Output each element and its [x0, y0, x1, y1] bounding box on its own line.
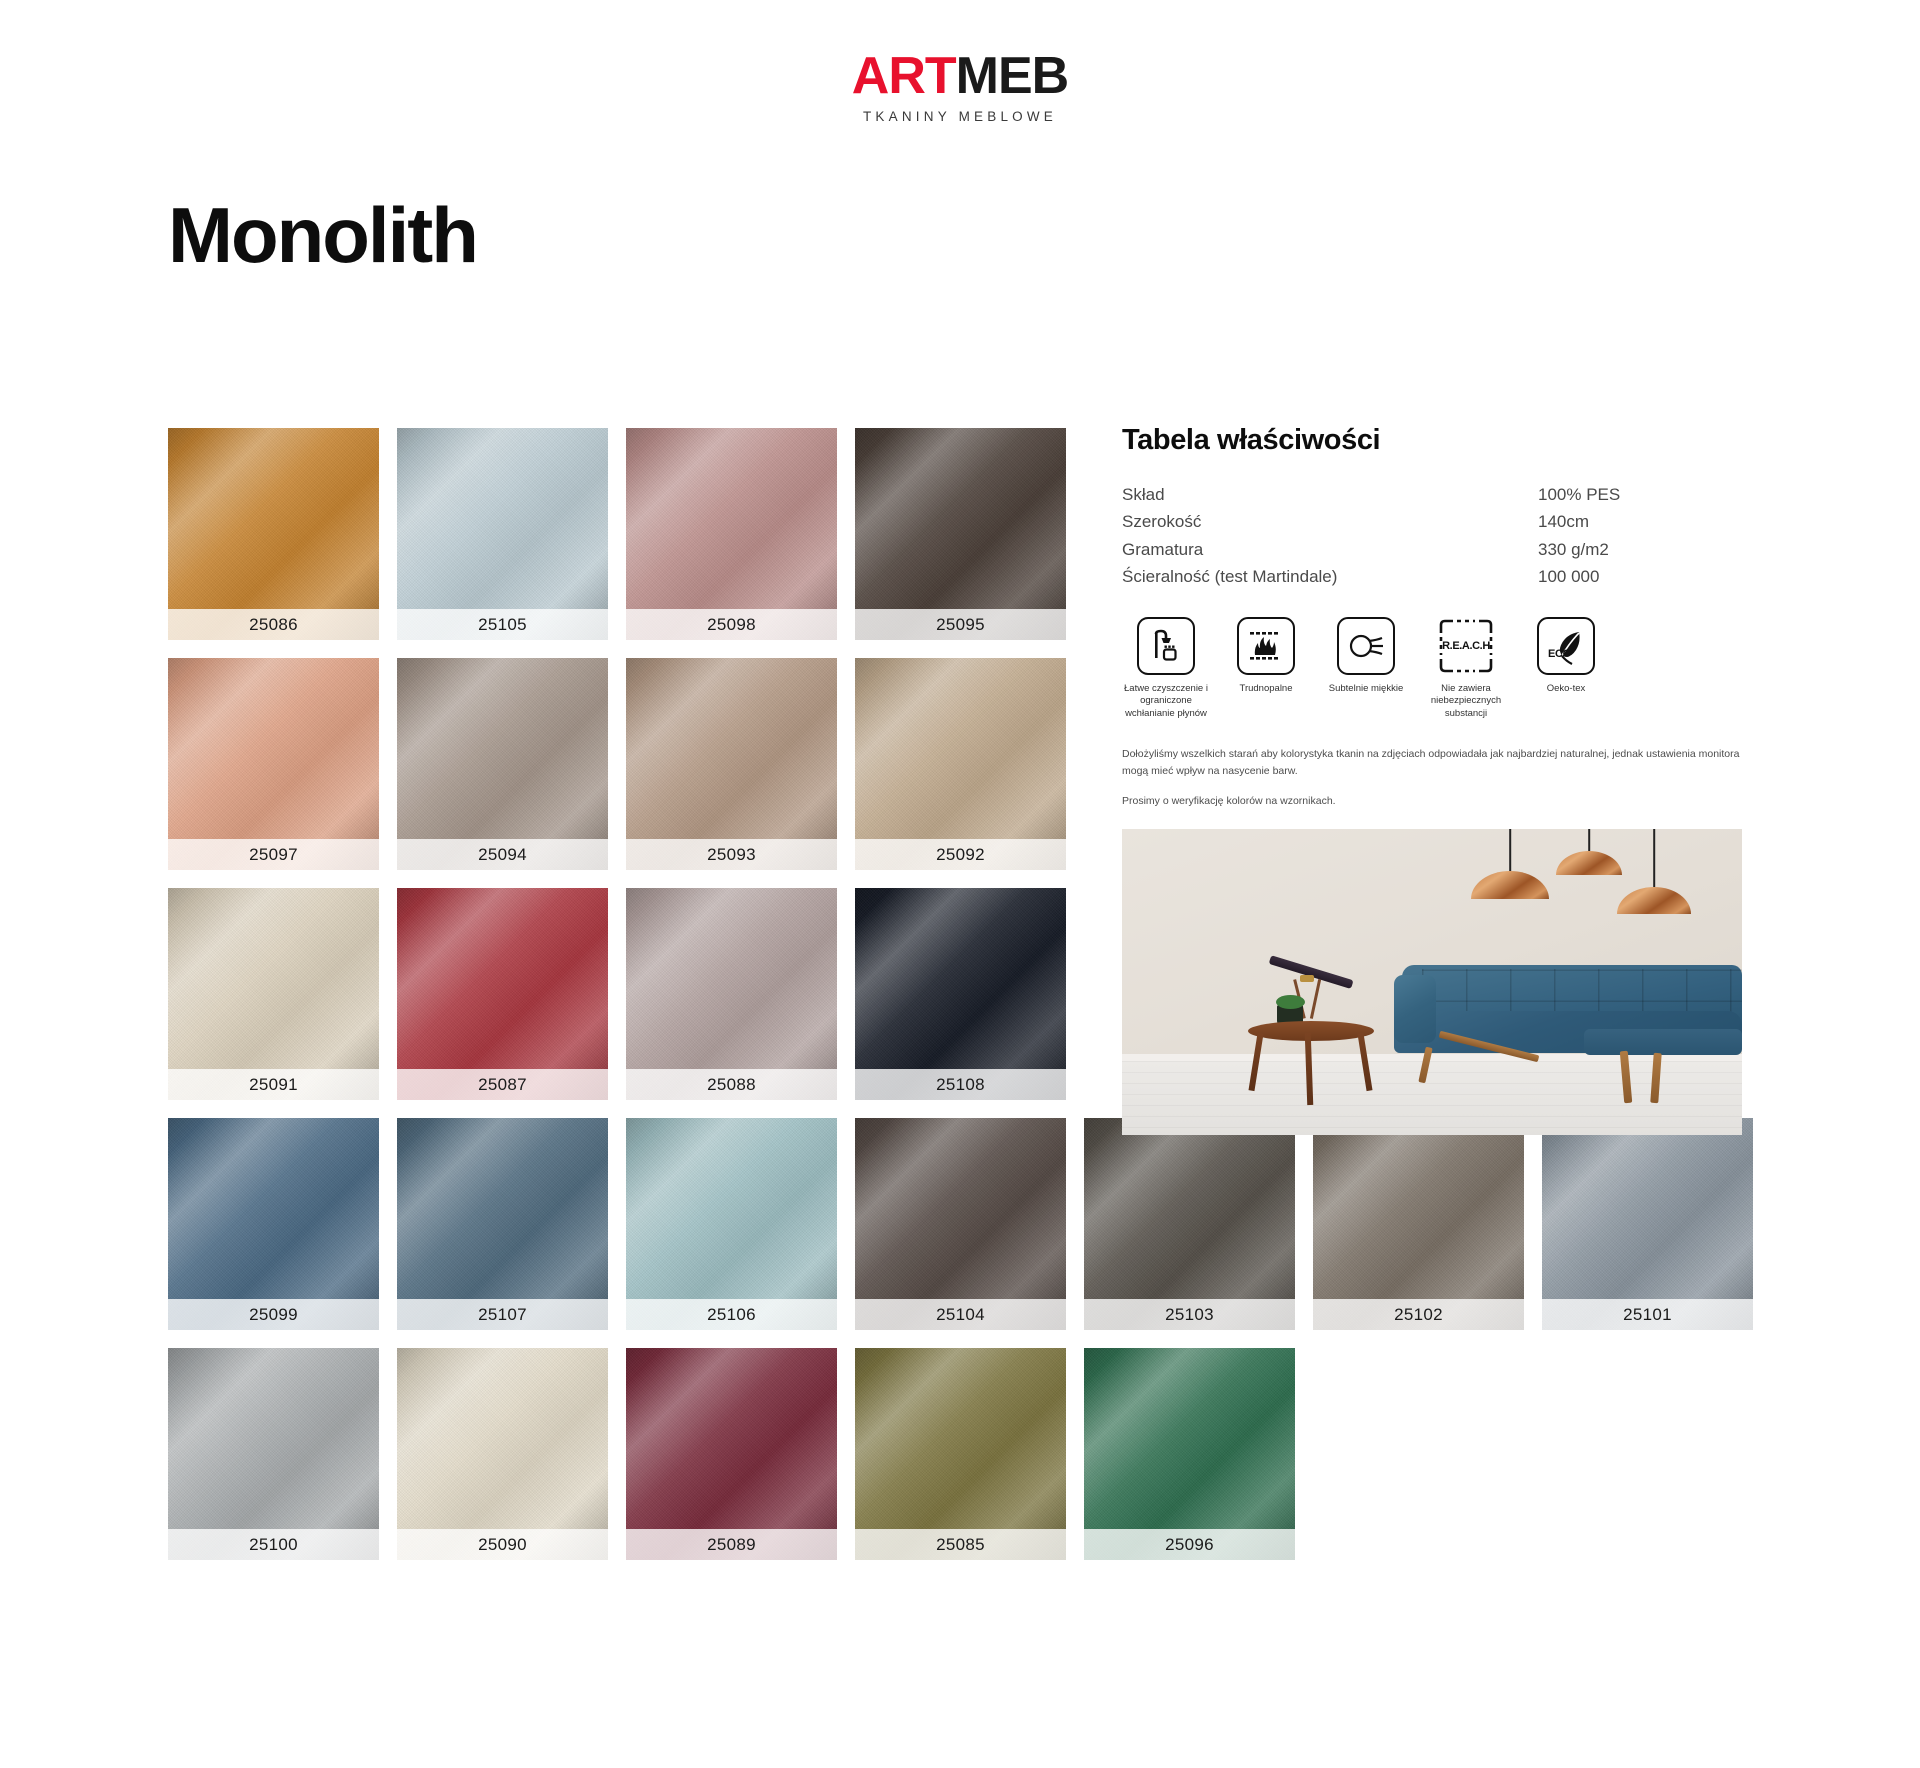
spec-value: 100 000 — [1532, 565, 1742, 592]
swatch-code: 25107 — [397, 1299, 608, 1330]
sofa-armrest — [1394, 975, 1436, 1043]
reach-icon: R.E.A.C.H — [1437, 617, 1495, 675]
pendant-lamp-right — [1614, 829, 1694, 921]
swatch-item[interactable]: 25104 — [855, 1118, 1066, 1330]
swatch-item[interactable]: 25094 — [397, 658, 608, 870]
swatch-code: 25105 — [397, 609, 608, 640]
feature-caption: Trudnopalne — [1222, 683, 1310, 696]
telescope-mount — [1300, 975, 1314, 982]
swatch-item[interactable]: 25108 — [855, 888, 1066, 1100]
feature-icons: Łatwe czyszczenie i ograniczone wchłania… — [1122, 617, 1742, 721]
brand-wordmark: ARTMEB — [852, 50, 1068, 102]
properties-heading: Tabela właściwości — [1122, 424, 1742, 457]
disclaimer-paragraph-2: Prosimy o weryfikację kolorów na wzornik… — [1122, 793, 1740, 809]
feature-oeko-tex: ECO Oeko-tex — [1522, 617, 1610, 721]
swatch-code: 25092 — [855, 839, 1066, 870]
swatch-code: 25099 — [168, 1299, 379, 1330]
swatch-item[interactable]: 25089 — [626, 1348, 837, 1560]
swatch-item[interactable]: 25105 — [397, 428, 608, 640]
swatch-code: 25100 — [168, 1529, 379, 1560]
swatch-item[interactable]: 25085 — [855, 1348, 1066, 1560]
brand-tagline: TKANINY MEBLOWE — [0, 109, 1920, 124]
swatch-code: 25097 — [168, 839, 379, 870]
feature-easy-clean: Łatwe czyszczenie i ograniczone wchłania… — [1122, 617, 1210, 721]
feature-soft-touch: Subtelnie miękkie — [1322, 617, 1410, 721]
swatch-code: 25086 — [168, 609, 379, 640]
photo-floor — [1122, 1061, 1742, 1135]
swatch-item[interactable]: 25100 — [168, 1348, 379, 1560]
swatch-code: 25091 — [168, 1069, 379, 1100]
swatch-item[interactable]: 25098 — [626, 428, 837, 640]
swatch-code: 25101 — [1542, 1299, 1753, 1330]
swatch-item[interactable]: 25102 — [1313, 1118, 1524, 1330]
spec-label: Ścieralność (test Martindale) — [1122, 565, 1532, 592]
swatch-item[interactable]: 25101 — [1542, 1118, 1753, 1330]
swatch-code: 25106 — [626, 1299, 837, 1330]
brand-logo: ARTMEB TKANINY MEBLOWE — [0, 50, 1920, 124]
pendant-lamp-left — [1470, 829, 1550, 905]
lamp-cord — [1653, 829, 1655, 887]
reach-badge-text: R.E.A.C.H — [1442, 640, 1490, 652]
swatch-code: 25104 — [855, 1299, 1066, 1330]
swatch-code: 25096 — [1084, 1529, 1295, 1560]
lamp-shade — [1556, 851, 1622, 875]
swatch-item[interactable]: 25092 — [855, 658, 1066, 870]
color-disclaimer: Dołożyliśmy wszelkich starań aby kolorys… — [1122, 746, 1740, 809]
flame-retardant-icon — [1237, 617, 1295, 675]
swatch-item[interactable]: 25091 — [168, 888, 379, 1100]
swatch-code: 25103 — [1084, 1299, 1295, 1330]
swatch-item[interactable]: 25106 — [626, 1118, 837, 1330]
swatch-item[interactable]: 25097 — [168, 658, 379, 870]
lamp-cord — [1588, 829, 1590, 851]
spec-label: Szerokość — [1122, 510, 1532, 537]
properties-panel: Tabela właściwości Skład 100% PES Szerok… — [1122, 424, 1742, 1135]
swatch-item[interactable]: 25093 — [626, 658, 837, 870]
room-interior-photo — [1122, 829, 1742, 1135]
feature-reach: R.E.A.C.H Nie zawiera niebezpiecznych su… — [1422, 617, 1510, 721]
table-row: Ścieralność (test Martindale) 100 000 — [1122, 565, 1742, 592]
eco-leaf-icon: ECO — [1537, 617, 1595, 675]
swatch-item[interactable]: 25095 — [855, 428, 1066, 640]
swatch-item[interactable]: 25099 — [168, 1118, 379, 1330]
swatch-item[interactable]: 25103 — [1084, 1118, 1295, 1330]
table-row: Gramatura 330 g/m2 — [1122, 538, 1742, 565]
table-row: Szerokość 140cm — [1122, 510, 1742, 537]
feature-caption: Nie zawiera niebezpiecznych substancji — [1422, 683, 1510, 721]
swatch-code: 25090 — [397, 1529, 608, 1560]
brand-name-part1: ART — [852, 47, 956, 105]
brand-name-part2: MEB — [956, 47, 1069, 105]
properties-table: Skład 100% PES Szerokość 140cm Gramatura… — [1122, 483, 1742, 593]
page-title: Monolith — [168, 196, 477, 274]
swatch-code: 25098 — [626, 609, 837, 640]
feature-caption: Subtelnie miękkie — [1322, 683, 1410, 696]
sofa-cushion — [1584, 1029, 1742, 1055]
swatch-code: 25102 — [1313, 1299, 1524, 1330]
disclaimer-paragraph-1: Dołożyliśmy wszelkich starań aby kolorys… — [1122, 746, 1740, 779]
eco-badge-text: ECO — [1548, 648, 1571, 660]
swatch-code: 25087 — [397, 1069, 608, 1100]
swatch-item[interactable]: 25090 — [397, 1348, 608, 1560]
spec-value: 330 g/m2 — [1532, 538, 1742, 565]
easy-clean-icon — [1137, 617, 1195, 675]
feature-flame-retardant: Trudnopalne — [1222, 617, 1310, 721]
spec-label: Gramatura — [1122, 538, 1532, 565]
catalog-page: ARTMEB TKANINY MEBLOWE Monolith 25086 25… — [0, 0, 1920, 1768]
swatch-item[interactable]: 25107 — [397, 1118, 608, 1330]
swatch-code: 25089 — [626, 1529, 837, 1560]
swatch-item[interactable]: 25088 — [626, 888, 837, 1100]
swatch-code: 25093 — [626, 839, 837, 870]
feature-caption: Łatwe czyszczenie i ograniczone wchłania… — [1122, 683, 1210, 721]
spec-value: 100% PES — [1532, 483, 1742, 510]
swatch-code: 25088 — [626, 1069, 837, 1100]
feature-caption: Oeko-tex — [1522, 683, 1610, 696]
swatch-row-5: 25100 25090 25089 25085 25096 — [168, 1348, 1298, 1560]
swatch-item[interactable]: 25096 — [1084, 1348, 1295, 1560]
soft-touch-icon — [1337, 617, 1395, 675]
lamp-shade — [1617, 887, 1691, 914]
swatch-item[interactable]: 25086 — [168, 428, 379, 640]
swatch-code: 25085 — [855, 1529, 1066, 1560]
swatch-row-4: 25099 25107 25106 25104 25103 25102 — [168, 1118, 1298, 1330]
swatch-code: 25095 — [855, 609, 1066, 640]
table-row: Skład 100% PES — [1122, 483, 1742, 510]
lamp-cord — [1509, 829, 1511, 871]
swatch-item[interactable]: 25087 — [397, 888, 608, 1100]
lamp-shade — [1471, 871, 1549, 899]
swatch-code: 25094 — [397, 839, 608, 870]
spec-value: 140cm — [1532, 510, 1742, 537]
swatch-code: 25108 — [855, 1069, 1066, 1100]
spec-label: Skład — [1122, 483, 1532, 510]
